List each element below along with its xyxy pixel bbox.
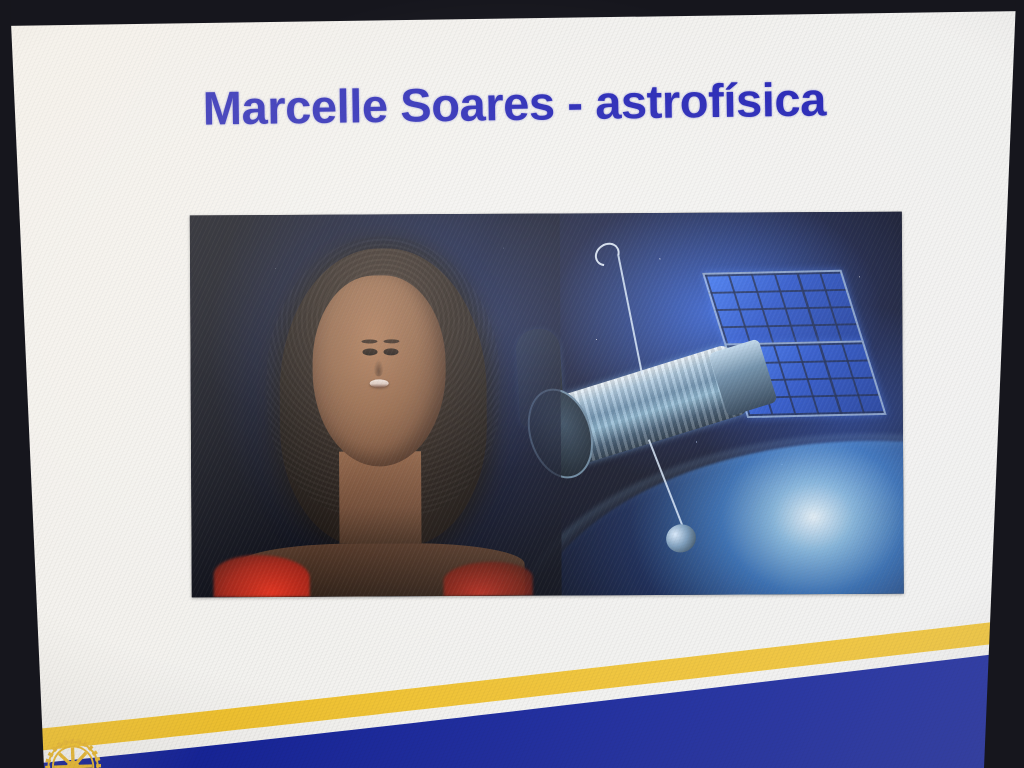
eyebrow-right xyxy=(383,339,399,343)
eyebrow-left xyxy=(362,340,378,344)
eye-right xyxy=(384,348,399,355)
presentation-slide: Marcelle Soares - astrofísica xyxy=(0,6,1024,768)
blue-band xyxy=(0,644,1024,768)
nose xyxy=(374,360,383,377)
antenna-mast-lower xyxy=(648,439,685,529)
eye-left xyxy=(363,348,378,355)
slide-image xyxy=(190,212,904,598)
face xyxy=(312,275,446,467)
solar-panel-upper xyxy=(702,269,865,347)
page-title: Marcelle Soares - astrofísica xyxy=(0,68,1024,139)
smile xyxy=(370,380,389,388)
slide-footer-banner xyxy=(0,594,1024,768)
portrait-photo xyxy=(190,213,562,597)
screenshot-frame: Marcelle Soares - astrofísica xyxy=(0,0,1024,768)
rotary-wheel-logo xyxy=(44,738,102,768)
